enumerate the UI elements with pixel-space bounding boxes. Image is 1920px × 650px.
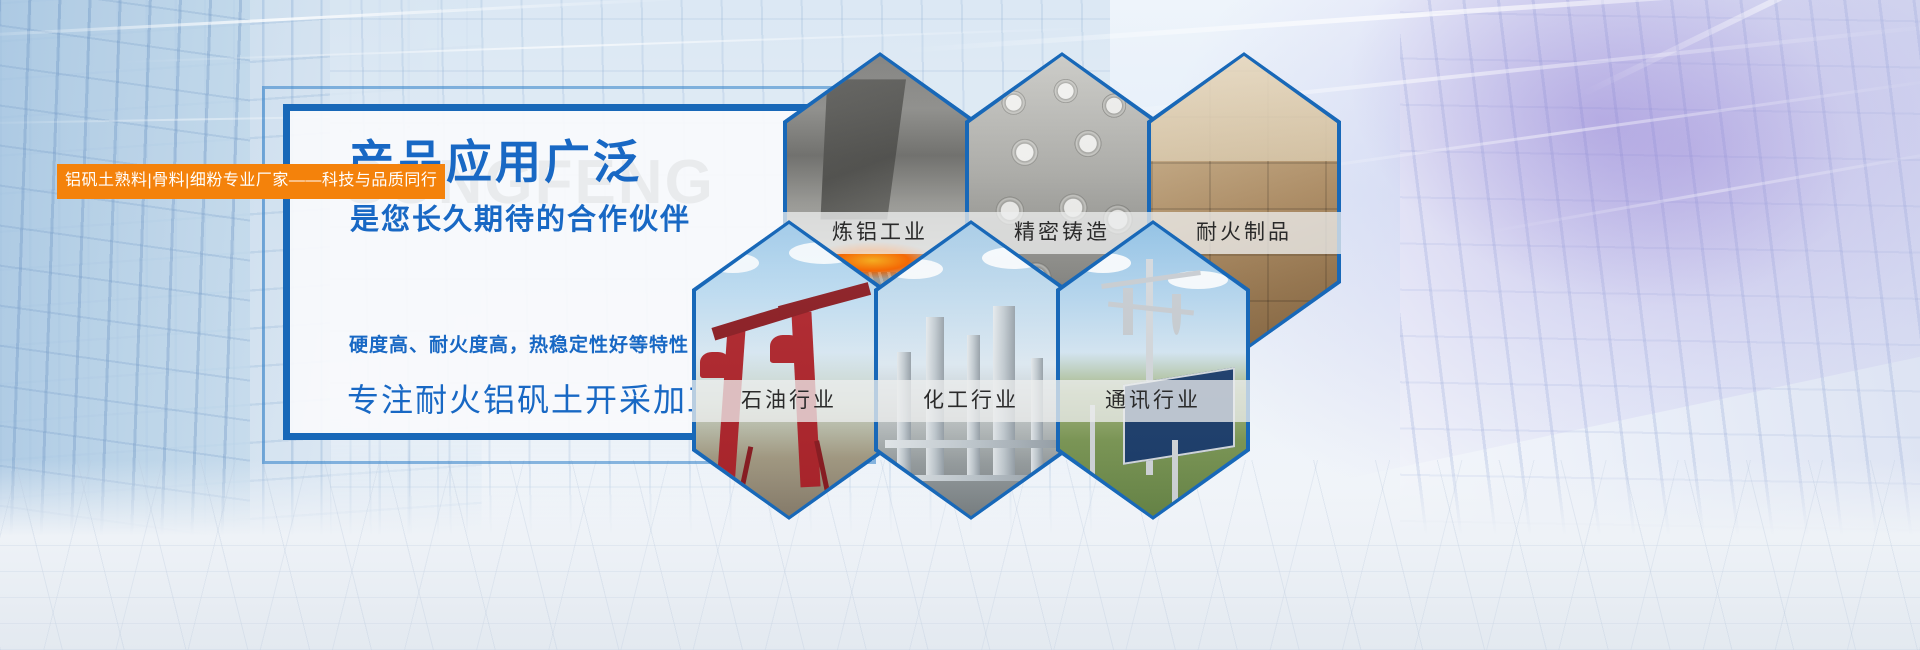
banner-stage: SONGFENG 产品应用广泛 是您长久期待的合作伙伴 硬度高、耐火度高，热稳定… bbox=[0, 0, 1920, 650]
hex-label: 石油行业 bbox=[692, 380, 886, 422]
tagline-badge: 铝矾土熟料|骨料|细粉专业厂家——科技与品质同行 bbox=[57, 164, 445, 199]
hex-label: 通讯行业 bbox=[1056, 380, 1250, 422]
industry-hex-grid: 炼铝工业 精密铸造 耐火制品 bbox=[665, 52, 1305, 612]
hex-label: 化工行业 bbox=[874, 380, 1068, 422]
features-text: 硬度高、耐火度高，热稳定性好等特性 bbox=[349, 330, 689, 357]
